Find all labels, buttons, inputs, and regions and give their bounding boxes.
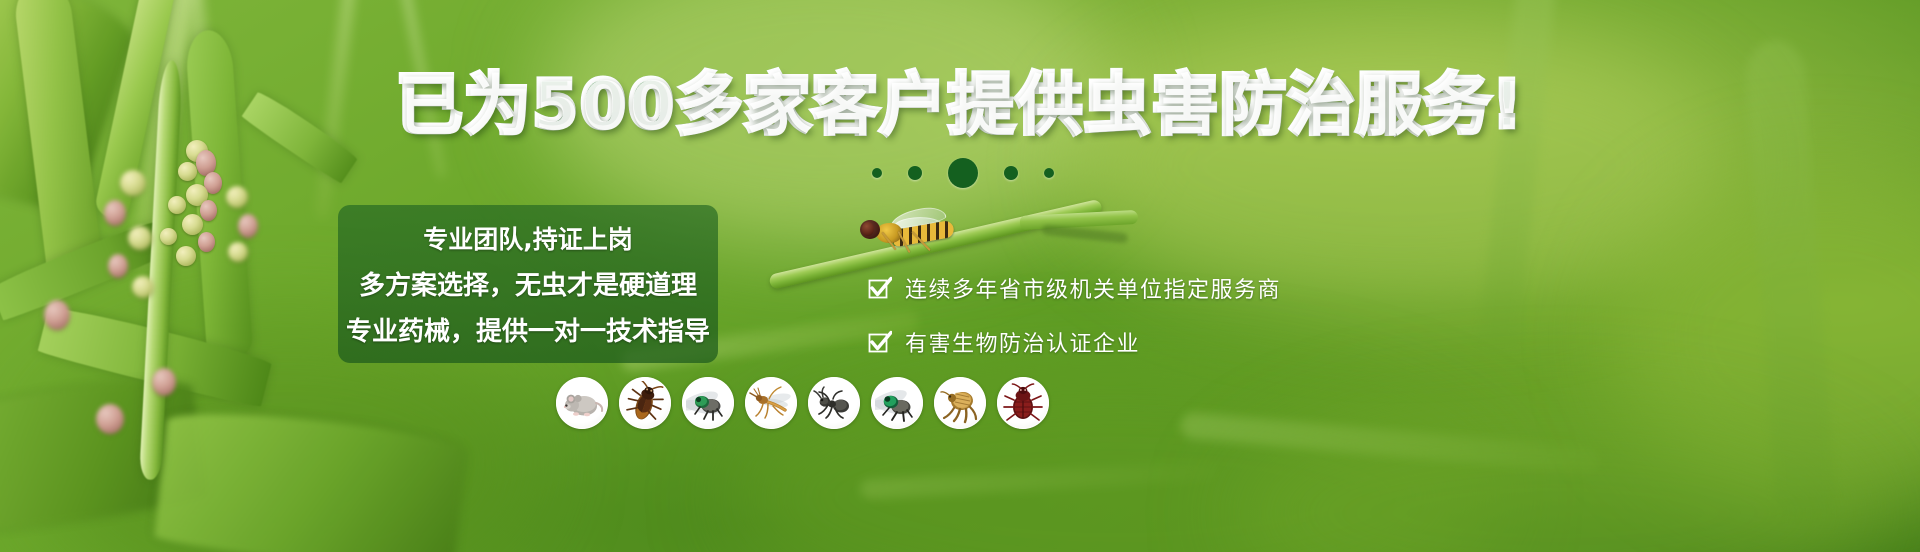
- page-title: 已为500多家客户提供虫害防治服务!: [0, 72, 1920, 138]
- credential-list: 连续多年省市级机关单位指定服务商 有害生物防治认证企业: [868, 272, 1281, 358]
- housefly-icon[interactable]: [682, 377, 734, 429]
- hoverfly-icon: [852, 207, 962, 263]
- bedbug-icon[interactable]: [997, 377, 1049, 429]
- selling-points-box: 专业团队,持证上岗 多方案选择，无虫才是硬道理 专业药械，提供一对一技术指导: [338, 205, 718, 363]
- selling-point-line-3: 专业药械，提供一对一技术指导: [346, 311, 710, 348]
- credential-text: 连续多年省市级机关单位指定服务商: [905, 272, 1281, 304]
- promo-banner: 已为500多家客户提供虫害防治服务! 专业团队,持证上岗 多方案选择，无虫才是硬…: [0, 0, 1920, 552]
- decorative-dot-large: [948, 158, 978, 188]
- page-title-text: 已为500多家客户提供虫害防治服务!: [396, 66, 1524, 143]
- mosquito-icon[interactable]: [745, 377, 797, 429]
- stem-shadow: [1042, 225, 1129, 244]
- list-item: 有害生物防治认证企业: [868, 326, 1281, 358]
- flea-icon[interactable]: [934, 377, 986, 429]
- credential-text: 有害生物防治认证企业: [905, 326, 1140, 358]
- selling-point-line-1: 专业团队,持证上岗: [423, 220, 633, 256]
- decorative-dot-medium: [908, 166, 922, 180]
- decorative-dot-medium: [1004, 166, 1018, 180]
- decorative-dot-row: [0, 158, 1920, 188]
- ant-icon[interactable]: [808, 377, 860, 429]
- mouse-icon[interactable]: [556, 377, 608, 429]
- list-item: 连续多年省市级机关单位指定服务商: [868, 272, 1281, 304]
- pest-icon-row: [556, 377, 1049, 429]
- cockroach-icon[interactable]: [619, 377, 671, 429]
- decorative-dot-small: [1044, 168, 1054, 178]
- checkbox-checked-icon: [868, 276, 892, 300]
- blowfly-icon[interactable]: [871, 377, 923, 429]
- selling-point-line-2: 多方案选择，无虫才是硬道理: [359, 265, 697, 302]
- hoverfly-eye: [862, 222, 874, 236]
- decorative-dot-small: [872, 168, 882, 178]
- checkbox-checked-icon: [868, 330, 892, 354]
